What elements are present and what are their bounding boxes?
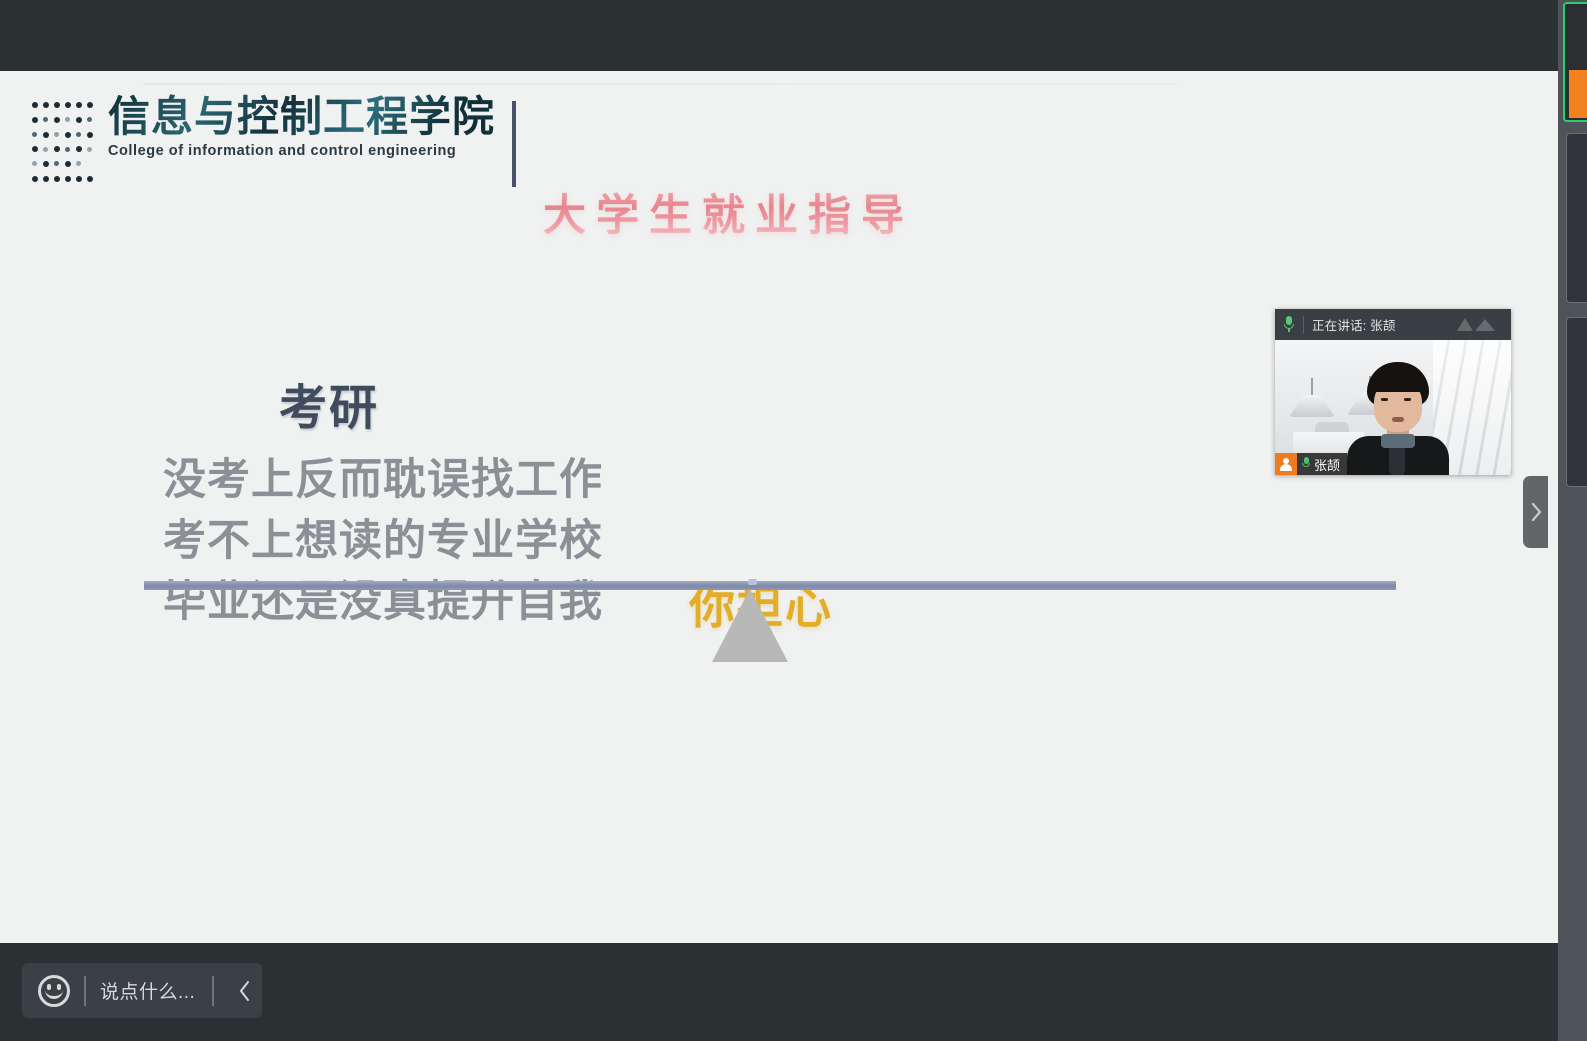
chevron-right-icon	[1529, 501, 1543, 523]
dot-grid-icon	[30, 99, 94, 185]
balance-fulcrum-triangle	[712, 589, 788, 662]
logo-chinese-name: 信息与控制工程学院	[108, 93, 495, 140]
speaker-figure	[1347, 362, 1449, 475]
rail-bottom-spacer	[1548, 943, 1558, 1041]
rail-top-spacer	[1548, 0, 1558, 71]
header-divider	[1303, 316, 1304, 334]
rail-slide-edge	[1548, 71, 1558, 943]
smiley-icon[interactable]	[38, 975, 70, 1007]
audio-waveform-icon	[1455, 316, 1501, 338]
participant-name: 张颉	[1314, 455, 1340, 474]
microphone-icon	[1301, 457, 1311, 471]
balance-pivot-dot	[748, 579, 757, 585]
bottom-bar: 说点什么...	[0, 943, 1548, 1041]
chat-divider	[212, 976, 214, 1006]
microphone-icon	[1283, 316, 1295, 333]
panel-expand-tab[interactable]	[1523, 476, 1548, 548]
chat-input-bar[interactable]: 说点什么...	[22, 963, 262, 1018]
app-root: 信息与控制工程学院 College of information and con…	[0, 0, 1587, 1041]
logo-english-name: College of information and control engin…	[108, 143, 495, 159]
chat-divider	[84, 976, 86, 1006]
sidebar-item[interactable]	[1566, 317, 1587, 487]
sidebar-item[interactable]	[1566, 133, 1587, 303]
chat-collapse-button[interactable]	[228, 979, 262, 1003]
presentation-slide: 信息与控制工程学院 College of information and con…	[0, 71, 1548, 943]
concern-list: 没考上反而耽误找工作 考不上想读的专业学校 毕业还是没真提升自我	[163, 450, 603, 633]
list-item: 没考上反而耽误找工作	[163, 450, 603, 511]
speaker-video-panel[interactable]: 正在讲话: 张颉	[1275, 309, 1511, 475]
person-icon	[1275, 453, 1297, 475]
right-sidebar[interactable]	[1548, 0, 1587, 1041]
sidebar-accent-block	[1569, 70, 1587, 118]
participant-name-tag: 张颉	[1275, 453, 1347, 475]
speaker-video-header: 正在讲话: 张颉	[1275, 309, 1511, 340]
top-bar	[0, 0, 1548, 71]
topic-heading: 考研	[279, 368, 379, 438]
chat-placeholder-text[interactable]: 说点什么...	[100, 977, 198, 1004]
institution-logo: 信息与控制工程学院 College of information and con…	[30, 93, 495, 185]
speaker-video-feed[interactable]: 张颉	[1275, 340, 1511, 475]
logo-vertical-divider	[512, 101, 516, 187]
list-item: 考不上想读的专业学校	[163, 511, 603, 572]
speaking-label: 正在讲话: 张颉	[1312, 315, 1396, 334]
header-divider-line	[143, 83, 1180, 85]
course-title: 大学生就业指导	[543, 181, 914, 243]
sidebar-item-active[interactable]	[1563, 2, 1587, 122]
chevron-left-icon	[238, 979, 252, 1003]
